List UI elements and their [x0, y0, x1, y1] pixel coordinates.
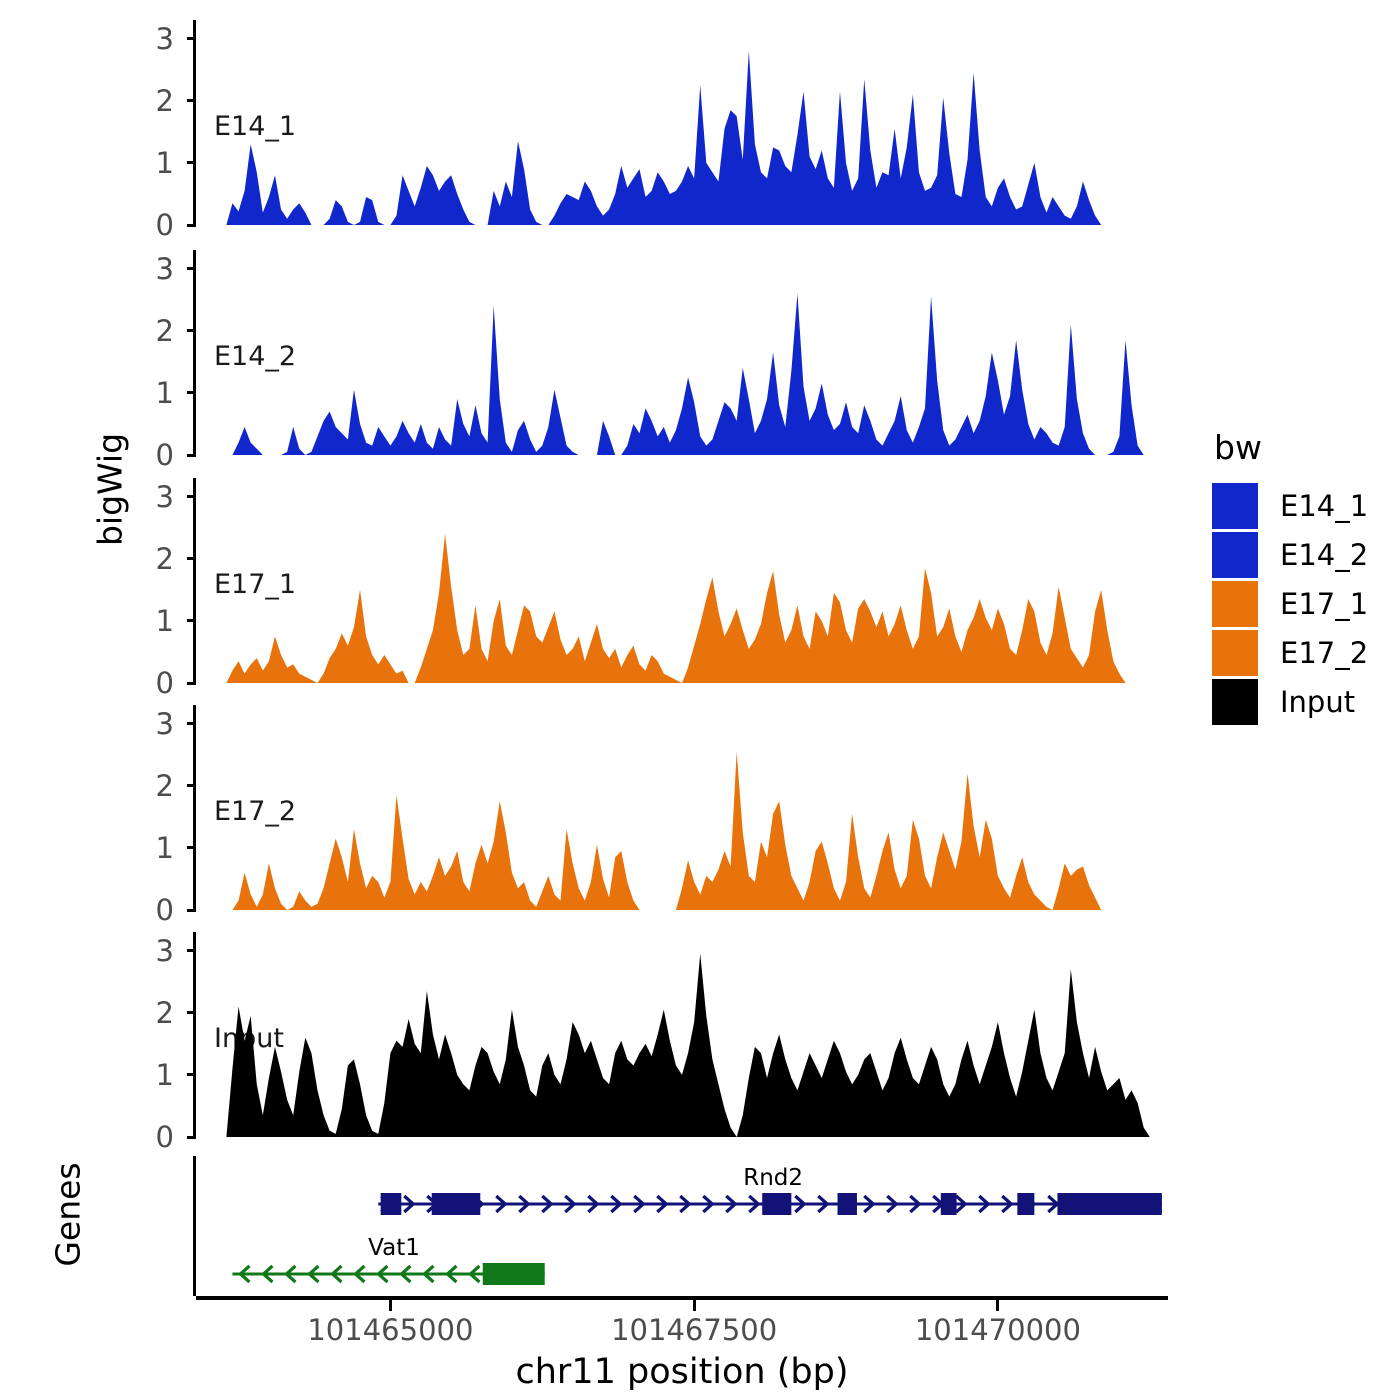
y-axis-tick-label: 1 — [156, 604, 174, 638]
x-axis-tick-label: 101467500 — [611, 1313, 777, 1347]
signal-area-e17_2 — [196, 705, 1168, 910]
y-axis-tick-label: 1 — [156, 1058, 174, 1092]
x-axis-tick-label: 101465000 — [307, 1313, 473, 1347]
y-axis-tick — [187, 161, 196, 164]
legend-swatch — [1212, 581, 1258, 627]
legend-swatch — [1212, 483, 1258, 529]
legend-item-e14_1[interactable]: E14_1 — [1212, 481, 1368, 530]
legend-item-e17_2[interactable]: E17_2 — [1212, 628, 1368, 677]
y-axis-tick-label: 3 — [156, 22, 174, 56]
y-axis-title-genes: Genes — [49, 1125, 88, 1305]
gene-exon[interactable] — [381, 1193, 402, 1215]
y-axis-tick — [187, 682, 196, 685]
genes-svg — [196, 1156, 1168, 1296]
signal-area-e17_1 — [196, 478, 1168, 683]
y-axis-tick — [187, 495, 196, 498]
legend-swatch — [1212, 532, 1258, 578]
y-axis-tick-label: 1 — [156, 831, 174, 865]
gene-exon[interactable] — [483, 1263, 545, 1285]
y-axis-tick — [187, 454, 196, 457]
y-axis-tick-label: 1 — [156, 146, 174, 180]
signal-path — [196, 954, 1150, 1137]
x-axis-tick-label: 101470000 — [915, 1313, 1081, 1347]
legend: bw E14_1E14_2E17_1E17_2Input — [1212, 428, 1368, 726]
legend-items: E14_1E14_2E17_1E17_2Input — [1212, 481, 1368, 726]
genes-plot-area — [196, 1156, 1168, 1296]
gene-exon[interactable] — [1017, 1193, 1034, 1215]
x-axis-tick — [389, 1300, 392, 1311]
y-axis-tick — [187, 391, 196, 394]
y-axis-tick-label: 3 — [156, 707, 174, 741]
gene-exon[interactable] — [838, 1193, 857, 1215]
signal-area-e14_1 — [196, 20, 1168, 225]
y-axis-tick-label: 0 — [156, 893, 174, 927]
y-axis-tick — [187, 1136, 196, 1139]
x-axis-line — [196, 1296, 1168, 1300]
y-axis-tick-label: 1 — [156, 376, 174, 410]
y-axis-tick — [187, 267, 196, 270]
signal-path — [196, 534, 1150, 683]
genome-browser-figure: bigWig Genes 0123E14_10123E14_20123E17_1… — [0, 0, 1400, 1400]
y-axis-tick — [187, 329, 196, 332]
y-axis-tick — [187, 784, 196, 787]
y-axis-tick — [187, 557, 196, 560]
y-axis-tick-label: 0 — [156, 1120, 174, 1154]
y-axis-tick-label: 0 — [156, 666, 174, 700]
y-axis-tick-label: 3 — [156, 480, 174, 514]
x-axis-title: chr11 position (bp) — [196, 1352, 1168, 1392]
signal-svg — [196, 705, 1168, 910]
y-axis-tick — [187, 99, 196, 102]
y-axis-tick — [187, 1073, 196, 1076]
y-axis-tick-label: 2 — [156, 84, 174, 118]
y-axis-tick — [187, 949, 196, 952]
legend-label: E17_1 — [1280, 587, 1368, 621]
signal-area-e14_2 — [196, 250, 1168, 455]
genes-panel: Rnd2Vat1 — [196, 1156, 1168, 1296]
legend-label: E14_1 — [1280, 489, 1368, 523]
gene-exon[interactable] — [762, 1193, 791, 1215]
signal-svg — [196, 20, 1168, 225]
y-axis-tick — [187, 722, 196, 725]
signal-svg — [196, 478, 1168, 683]
legend-title: bw — [1214, 428, 1368, 467]
signal-svg — [196, 250, 1168, 455]
x-axis-tick — [996, 1300, 999, 1311]
signal-svg — [196, 932, 1168, 1137]
gene-exon[interactable] — [432, 1193, 481, 1215]
gene-exon[interactable] — [941, 1193, 957, 1215]
signal-path — [196, 752, 1132, 910]
gene-label-rnd2: Rnd2 — [743, 1165, 803, 1191]
y-axis-tick — [187, 909, 196, 912]
y-axis-tick-label: 2 — [156, 542, 174, 576]
y-axis-tick-label: 0 — [156, 208, 174, 242]
signal-path — [196, 51, 1168, 225]
y-axis-tick — [187, 37, 196, 40]
legend-label: E17_2 — [1280, 636, 1368, 670]
gene-label-vat1: Vat1 — [368, 1235, 420, 1261]
x-axis-tick — [693, 1300, 696, 1311]
y-axis-tick-label: 2 — [156, 769, 174, 803]
track-panel-e17_1: 0123E17_1 — [196, 478, 1168, 683]
y-axis-tick — [187, 1011, 196, 1014]
legend-item-input[interactable]: Input — [1212, 677, 1368, 726]
y-axis-tick — [187, 846, 196, 849]
track-panel-e17_2: 0123E17_2 — [196, 705, 1168, 910]
track-panel-input: 0123Input — [196, 932, 1168, 1137]
signal-path — [196, 293, 1162, 455]
legend-swatch — [1212, 679, 1258, 725]
y-axis-tick-label: 3 — [156, 252, 174, 286]
legend-swatch — [1212, 630, 1258, 676]
track-panel-e14_2: 0123E14_2 — [196, 250, 1168, 455]
y-axis-tick — [187, 224, 196, 227]
legend-item-e14_2[interactable]: E14_2 — [1212, 530, 1368, 579]
y-axis-tick-label: 3 — [156, 934, 174, 968]
legend-label: Input — [1280, 685, 1355, 719]
y-axis-tick — [187, 619, 196, 622]
gene-exon[interactable] — [1057, 1193, 1161, 1215]
signal-area-input — [196, 932, 1168, 1137]
track-panel-e14_1: 0123E14_1 — [196, 20, 1168, 225]
legend-label: E14_2 — [1280, 538, 1368, 572]
y-axis-tick-label: 2 — [156, 314, 174, 348]
y-axis-title-bigwig: bigWig — [91, 390, 130, 590]
legend-item-e17_1[interactable]: E17_1 — [1212, 579, 1368, 628]
y-axis-tick-label: 0 — [156, 438, 174, 472]
y-axis-tick-label: 2 — [156, 996, 174, 1030]
